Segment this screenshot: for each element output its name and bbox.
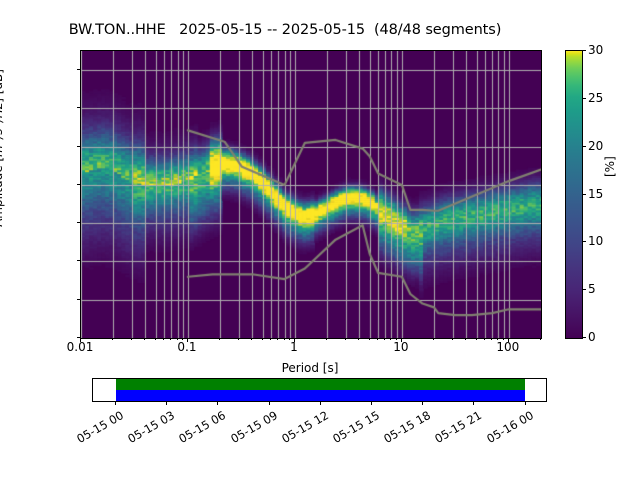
timeline-tick-mark bbox=[166, 401, 167, 405]
colorbar-tick-mark bbox=[582, 50, 586, 51]
timeline-tick-label: 05-15 15 bbox=[327, 408, 382, 448]
colorbar-tick-mark bbox=[582, 241, 586, 242]
y-tick-mark bbox=[77, 184, 81, 185]
x-tick-mark-minor bbox=[163, 338, 164, 340]
x-tick-mark-minor bbox=[177, 338, 178, 340]
x-tick-mark bbox=[294, 338, 295, 342]
x-tick-mark-minor bbox=[384, 338, 385, 340]
x-tick-mark-minor bbox=[503, 338, 504, 340]
x-tick-mark bbox=[80, 338, 81, 342]
x-tick-mark-minor bbox=[238, 338, 239, 340]
colorbar-tick-label: 0 bbox=[588, 331, 596, 343]
y-tick-mark bbox=[77, 299, 81, 300]
x-tick-mark-minor bbox=[369, 338, 370, 340]
colorbar-tick-label: 15 bbox=[588, 188, 603, 200]
timeline-coverage-axes[interactable] bbox=[92, 378, 547, 402]
timeline-tick-mark bbox=[422, 401, 423, 405]
x-tick-mark bbox=[187, 338, 188, 342]
timeline-tick-mark bbox=[269, 401, 270, 405]
x-tick-mark-minor bbox=[155, 338, 156, 340]
timeline-tick-label: 05-15 00 bbox=[71, 408, 126, 448]
x-tick-mark-minor bbox=[219, 338, 220, 340]
x-tick-label: 100 bbox=[468, 341, 548, 353]
x-tick-mark-minor bbox=[277, 338, 278, 340]
x-tick-mark-minor bbox=[326, 338, 327, 340]
x-tick-mark-minor bbox=[358, 338, 359, 340]
colorbar-tick-mark bbox=[582, 337, 586, 338]
colorbar-tick-label: 20 bbox=[588, 140, 603, 152]
y-tick-mark bbox=[77, 69, 81, 70]
x-tick-mark-minor bbox=[289, 338, 290, 340]
timeline-tick-label: 05-15 21 bbox=[429, 408, 484, 448]
x-tick-mark-minor bbox=[345, 338, 346, 340]
x-tick-mark-minor bbox=[377, 338, 378, 340]
x-tick-mark-minor bbox=[262, 338, 263, 340]
x-tick-mark-minor bbox=[170, 338, 171, 340]
timeline-tick-label: 05-15 12 bbox=[275, 408, 330, 448]
x-tick-mark-minor bbox=[497, 338, 498, 340]
timeline-tick-mark bbox=[115, 401, 116, 405]
x-tick-mark-minor bbox=[540, 338, 541, 340]
timeline-tick-mark bbox=[525, 401, 526, 405]
colorbar-tick-label: 25 bbox=[588, 92, 603, 104]
timeline-tick-mark bbox=[217, 401, 218, 405]
timeline-tick-label: 05-16 00 bbox=[480, 408, 535, 448]
colorbar-tick-mark bbox=[582, 146, 586, 147]
x-tick-mark-minor bbox=[433, 338, 434, 340]
x-tick-mark-minor bbox=[396, 338, 397, 340]
timeline-tick-label: 05-15 06 bbox=[173, 408, 228, 448]
x-tick-mark-minor bbox=[452, 338, 453, 340]
x-tick-label: 0.1 bbox=[147, 341, 227, 353]
timeline-tick-mark bbox=[320, 401, 321, 405]
x-tick-mark-minor bbox=[131, 338, 132, 340]
colorbar-tick-mark bbox=[582, 194, 586, 195]
y-axis-label: Amplitude [m2/s4/Hz] [dB] bbox=[0, 0, 5, 358]
x-tick-mark-minor bbox=[491, 338, 492, 340]
colorbar-tick-label: 5 bbox=[588, 283, 596, 295]
y-tick-mark bbox=[77, 146, 81, 147]
y-tick-mark bbox=[77, 222, 81, 223]
x-tick-mark-minor bbox=[144, 338, 145, 340]
x-tick-label: 1 bbox=[254, 341, 334, 353]
x-tick-mark-minor bbox=[284, 338, 285, 340]
colorbar-tick-mark bbox=[582, 289, 586, 290]
y-tick-mark bbox=[77, 260, 81, 261]
colorbar-tick-label: 10 bbox=[588, 235, 603, 247]
x-tick-mark-minor bbox=[476, 338, 477, 340]
x-tick-mark-minor bbox=[484, 338, 485, 340]
timeline-tick-label: 05-15 18 bbox=[378, 408, 433, 448]
x-tick-mark-minor bbox=[251, 338, 252, 340]
page-title: BW.TON..HHE 2025-05-15 -- 2025-05-15 (48… bbox=[0, 22, 570, 38]
y-tick-mark bbox=[77, 107, 81, 108]
timeline-tick-label: 05-15 03 bbox=[122, 408, 177, 448]
ppsd-plot-area[interactable] bbox=[80, 50, 542, 339]
timeline-tick-label: 05-15 09 bbox=[224, 408, 279, 448]
colorbar-tick-label: 30 bbox=[588, 44, 603, 56]
x-tick-mark-minor bbox=[270, 338, 271, 340]
timeline-tick-mark bbox=[371, 401, 372, 405]
data-coverage-blue[interactable] bbox=[116, 390, 525, 401]
x-tick-mark-minor bbox=[182, 338, 183, 340]
x-tick-mark-minor bbox=[112, 338, 113, 340]
colorbar[interactable] bbox=[565, 50, 583, 339]
colorbar-tick-mark bbox=[582, 98, 586, 99]
x-tick-label: 10 bbox=[361, 341, 441, 353]
data-coverage-green[interactable] bbox=[116, 379, 525, 390]
x-tick-mark-minor bbox=[465, 338, 466, 340]
x-tick-mark bbox=[508, 338, 509, 342]
colorbar-unit-label: [%] bbox=[603, 156, 617, 177]
x-axis-label: Period [s] bbox=[80, 361, 540, 375]
x-tick-mark-minor bbox=[390, 338, 391, 340]
x-tick-label: 0.01 bbox=[40, 341, 120, 353]
ppsd-density-canvas bbox=[81, 51, 541, 338]
x-tick-mark bbox=[401, 338, 402, 342]
timeline-tick-mark bbox=[473, 401, 474, 405]
